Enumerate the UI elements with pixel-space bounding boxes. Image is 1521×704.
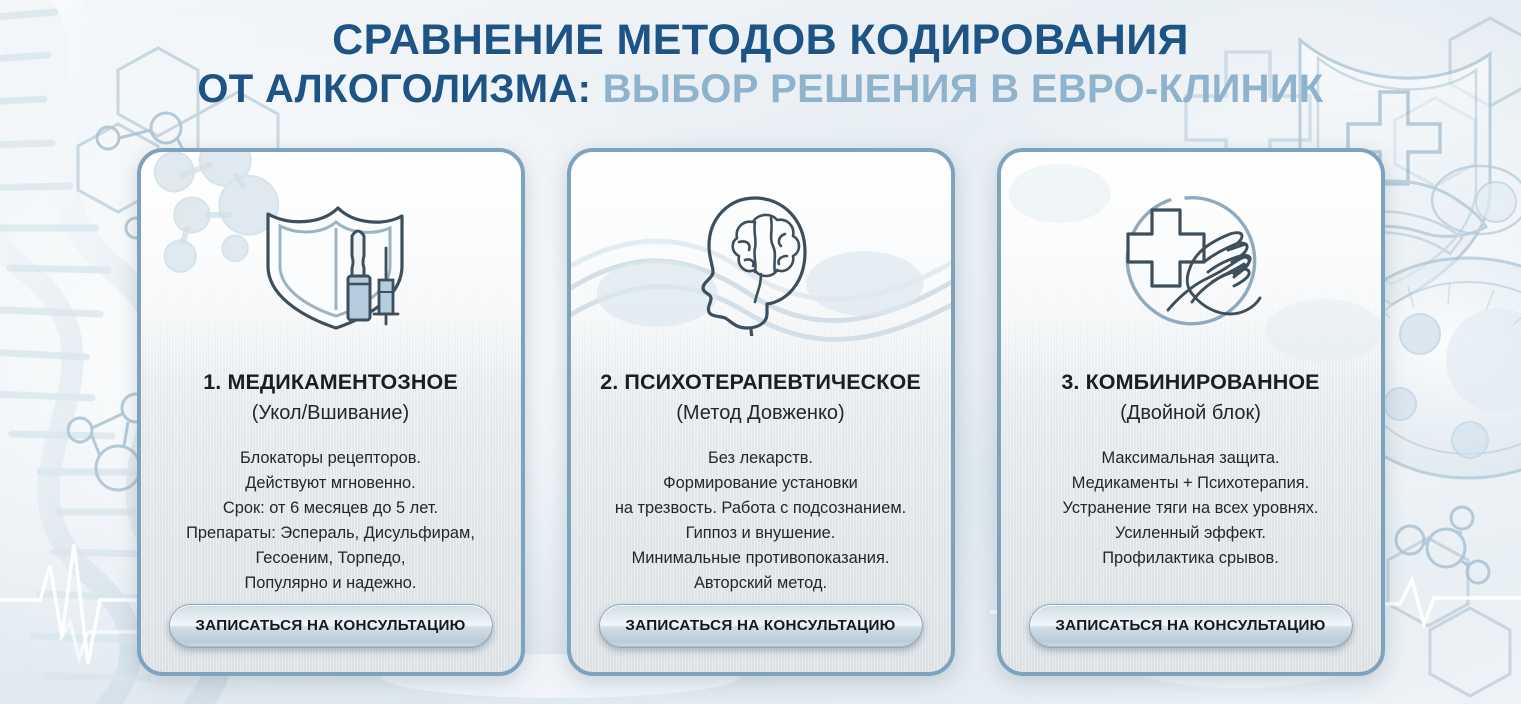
page-title-line-2-light: ВЫБОР РЕШЕНИЯ В ЕВРО-КЛИНИК <box>603 67 1324 111</box>
card-3-icon-area <box>1001 152 1381 370</box>
card-1-title: 1. МЕДИКАМЕНТОЗНОЕ <box>203 370 458 395</box>
card-2-subtitle: (Метод Довженко) <box>676 402 844 425</box>
method-card-combined[interactable]: 3. КОМБИНИРОВАННОЕ (Двойной блок) Максим… <box>997 148 1385 676</box>
head-brain-icon <box>691 186 831 336</box>
page-title-line-2-dark: ОТ АЛКОГОЛИЗМА: <box>197 67 591 111</box>
card-2-title: 2. ПСИХОТЕРАПЕВТИЧЕСКОЕ <box>600 370 921 395</box>
method-cards-container: 1. МЕДИКАМЕНТОЗНОЕ (Укол/Вшивание) Блока… <box>0 148 1521 676</box>
card-1-subtitle: (Укол/Вшивание) <box>252 402 409 425</box>
card-1-body: Блокаторы рецепторов. Действуют мгновенн… <box>176 446 485 596</box>
card-3-body: Максимальная защита. Медикаменты + Психо… <box>1053 446 1329 571</box>
card-3-subtitle: (Двойной блок) <box>1120 402 1261 425</box>
page-header: СРАВНЕНИЕ МЕТОДОВ КОДИРОВАНИЯ ОТ АЛКОГОЛ… <box>0 16 1521 112</box>
shield-ampoule-syringe-icon <box>256 192 406 330</box>
card-2-body: Без лекарств. Формирование установки на … <box>605 446 916 596</box>
card-2-icon-area <box>571 152 951 370</box>
method-card-psychotherapy[interactable]: 2. ПСИХОТЕРАПЕВТИЧЕСКОЕ (Метод Довженко)… <box>567 148 955 676</box>
page-title-line-2: ОТ АЛКОГОЛИЗМА: ВЫБОР РЕШЕНИЯ В ЕВРО-КЛИ… <box>0 67 1521 112</box>
method-card-medication[interactable]: 1. МЕДИКАМЕНТОЗНОЕ (Укол/Вшивание) Блока… <box>137 148 525 676</box>
card-1-cta-button[interactable]: ЗАПИСАТЬСЯ НА КОНСУЛЬТАЦИЮ <box>168 604 492 648</box>
card-3-cta-button[interactable]: ЗАПИСАТЬСЯ НА КОНСУЛЬТАЦИЮ <box>1028 604 1352 648</box>
card-2-cta-button[interactable]: ЗАПИСАТЬСЯ НА КОНСУЛЬТАЦИЮ <box>598 604 922 648</box>
page-title-line-1: СРАВНЕНИЕ МЕТОДОВ КОДИРОВАНИЯ <box>0 16 1521 64</box>
card-1-icon-area <box>141 152 521 370</box>
card-3-title: 3. КОМБИНИРОВАННОЕ <box>1061 370 1319 395</box>
cross-helping-hands-icon <box>1108 190 1274 332</box>
